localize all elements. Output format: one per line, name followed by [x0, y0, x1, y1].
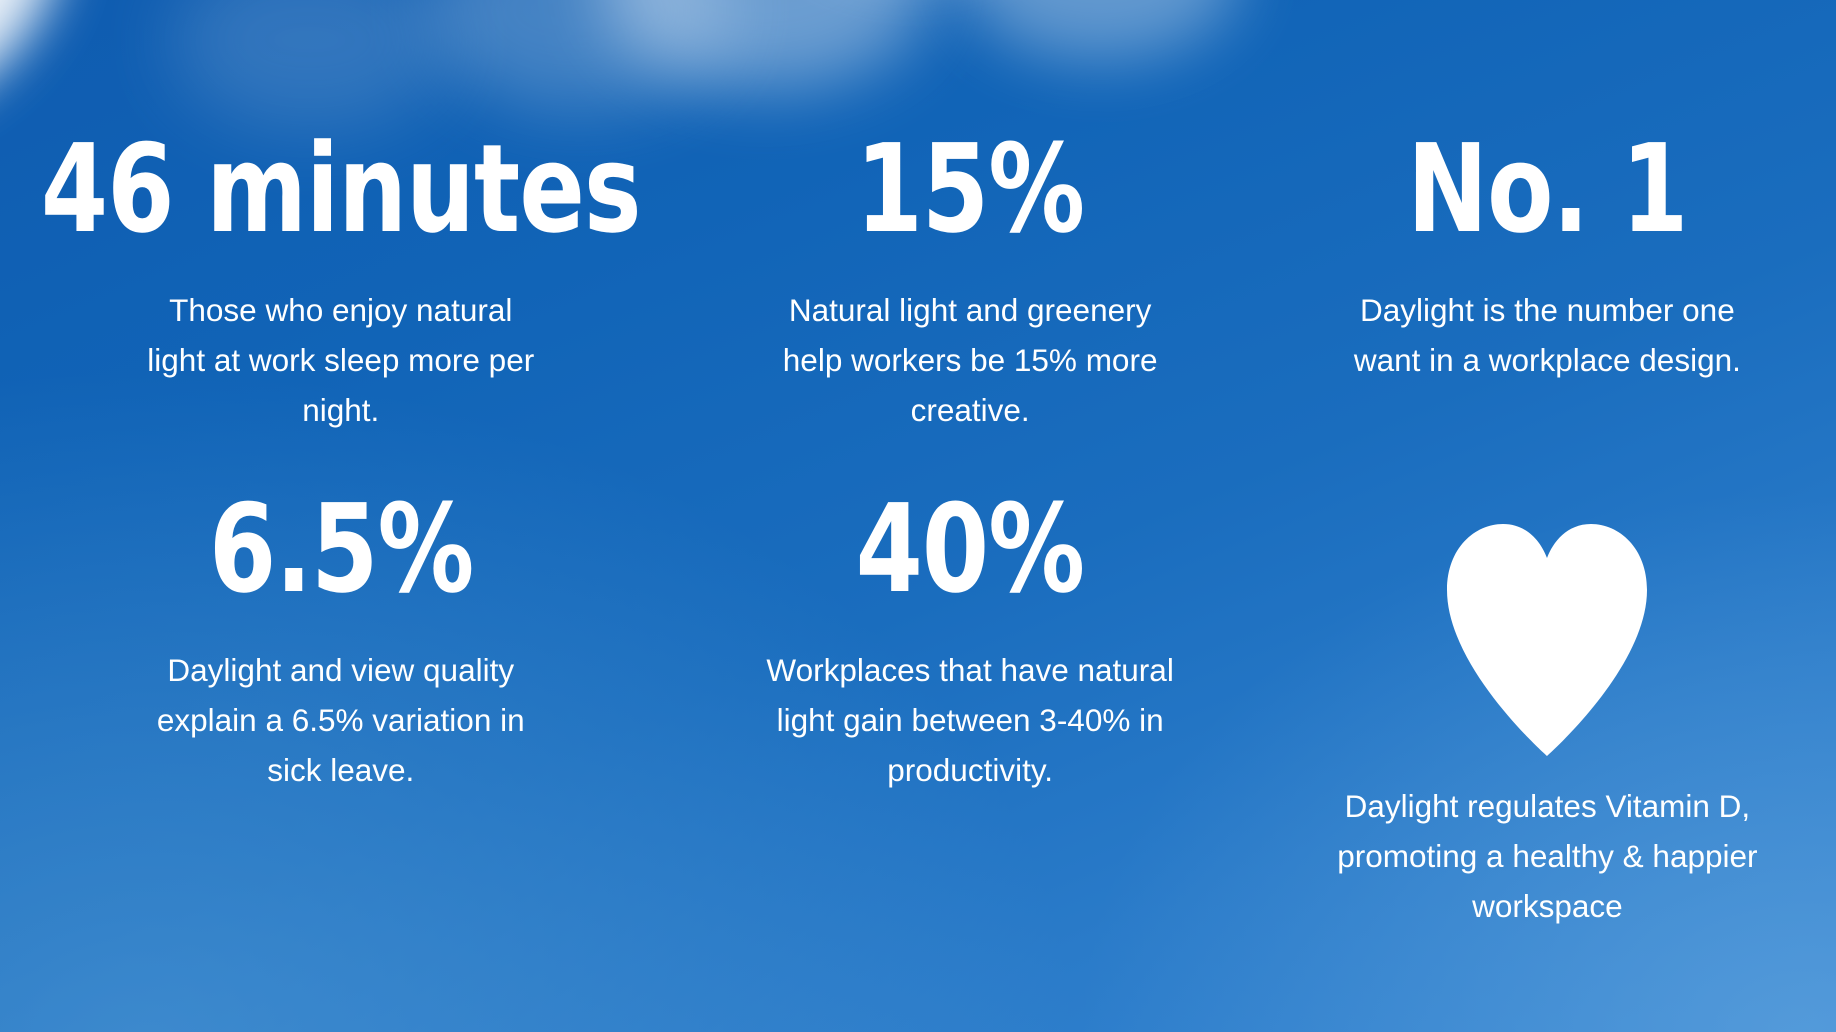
stat-description: Daylight and view quality explain a 6.5%…: [131, 646, 551, 795]
stat-headline: No. 1: [1407, 128, 1687, 250]
stat-card-creativity-percent: 15% Natural light and greenery help work…: [682, 0, 1259, 470]
stat-headline: 15%: [856, 128, 1085, 250]
stat-headline: 46 minutes: [41, 128, 641, 250]
stats-grid: 46 minutes Those who enjoy natural light…: [0, 0, 1836, 1032]
stat-headline: 40%: [856, 488, 1085, 610]
stat-card-workplace-rank: No. 1 Daylight is the number one want in…: [1259, 0, 1836, 470]
stat-card-productivity-gain: 40% Workplaces that have natural light g…: [682, 470, 1259, 1032]
stat-card-sick-leave-variation: 6.5% Daylight and view quality explain a…: [0, 470, 682, 1032]
stat-description: Daylight regulates Vitamin D, promoting …: [1327, 782, 1767, 931]
infographic-canvas: 46 minutes Those who enjoy natural light…: [0, 0, 1836, 1032]
stat-card-vitamin-d: Daylight regulates Vitamin D, promoting …: [1259, 470, 1836, 1032]
stat-description: Workplaces that have natural light gain …: [760, 646, 1180, 795]
stat-card-sleep-minutes: 46 minutes Those who enjoy natural light…: [0, 0, 682, 470]
stat-headline: 6.5%: [209, 488, 473, 610]
heart-icon: [1447, 524, 1647, 756]
stat-description: Daylight is the number one want in a wor…: [1347, 286, 1747, 386]
stat-description: Those who enjoy natural light at work sl…: [141, 286, 541, 435]
stat-description: Natural light and greenery help workers …: [770, 286, 1170, 435]
